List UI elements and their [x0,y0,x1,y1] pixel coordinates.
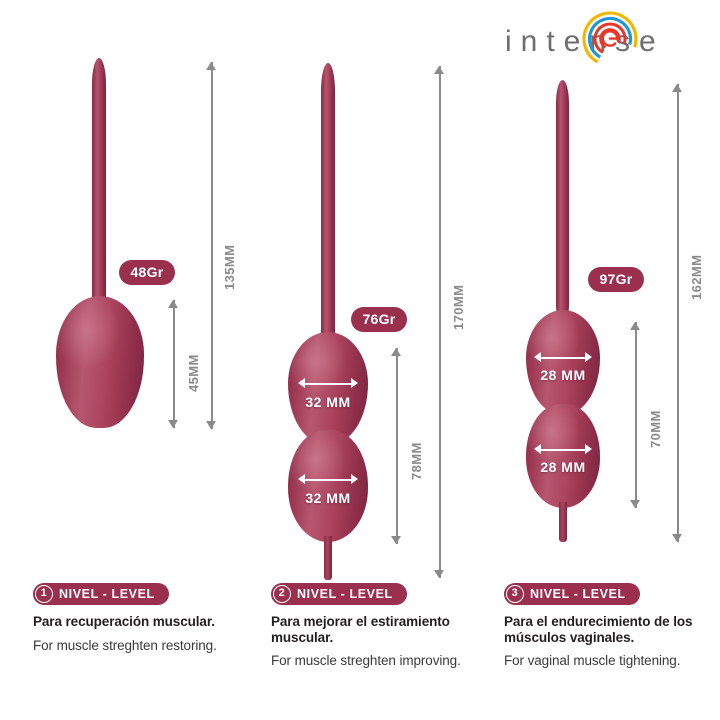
caption-spanish-1: Para recuperación muscular. [33,614,253,630]
dimension-arrow-total-level-2 [431,66,449,578]
weight-badge-level-2: 76Gr [351,307,407,332]
width-arrow-top-level-3 [534,352,592,363]
caption-level-3: 3 NIVEL - LEVEL Para el endurecimiento d… [504,583,714,669]
width-label-bottom-level-2: 32 MM [288,490,368,506]
dimension-arrow-body-level-1 [165,300,183,428]
caption-english-1: For muscle streghten restoring. [33,638,253,654]
width-label-top-level-3: 28 MM [523,367,603,383]
caption-level-2: 2 NIVEL - LEVEL Para mejorar el estirami… [271,583,491,669]
dimension-label-total-level-2: 170MM [451,285,466,330]
dimension-label-body-level-1: 45MM [186,354,201,392]
infographic-canvas: intense 48Gr 135MM 45MM [0,0,720,720]
level-label-1: NIVEL - LEVEL [59,587,155,601]
caption-spanish-3: Para el endurecimiento de los músculos v… [504,614,714,645]
dimension-label-total-level-1: 135MM [222,245,237,290]
width-arrow-bottom-level-2 [298,474,358,485]
caption-spanish-2: Para mejorar el estiramiento muscular. [271,614,491,645]
dimension-arrow-total-level-3 [669,84,687,542]
level-badge-1: 1 NIVEL - LEVEL [33,583,169,605]
dimension-arrow-body-level-2 [388,348,406,544]
level-badge-2: 2 NIVEL - LEVEL [271,583,407,605]
width-label-top-level-2: 32 MM [288,394,368,410]
caption-level-1: 1 NIVEL - LEVEL Para recuperación muscul… [33,583,253,654]
dimension-label-body-level-2: 78MM [409,442,424,480]
weight-badge-level-3: 97Gr [588,267,644,292]
dimension-arrow-total-level-1 [203,62,221,429]
level-label-3: NIVEL - LEVEL [530,587,626,601]
level-badge-3: 3 NIVEL - LEVEL [504,583,640,605]
width-label-bottom-level-3: 28 MM [523,459,603,475]
weight-badge-level-1: 48Gr [119,260,175,285]
width-arrow-bottom-level-3 [534,444,592,455]
level-number-2: 2 [273,585,291,603]
width-arrow-top-level-2 [298,378,358,389]
dimension-label-total-level-3: 162MM [689,255,704,300]
caption-english-3: For vaginal muscle tightening. [504,653,714,669]
caption-english-2: For muscle streghten improving. [271,653,491,669]
dimension-arrow-body-level-3 [627,322,645,508]
level-number-3: 3 [506,585,524,603]
dimension-label-body-level-3: 70MM [648,410,663,448]
level-number-1: 1 [35,585,53,603]
level-label-2: NIVEL - LEVEL [297,587,393,601]
